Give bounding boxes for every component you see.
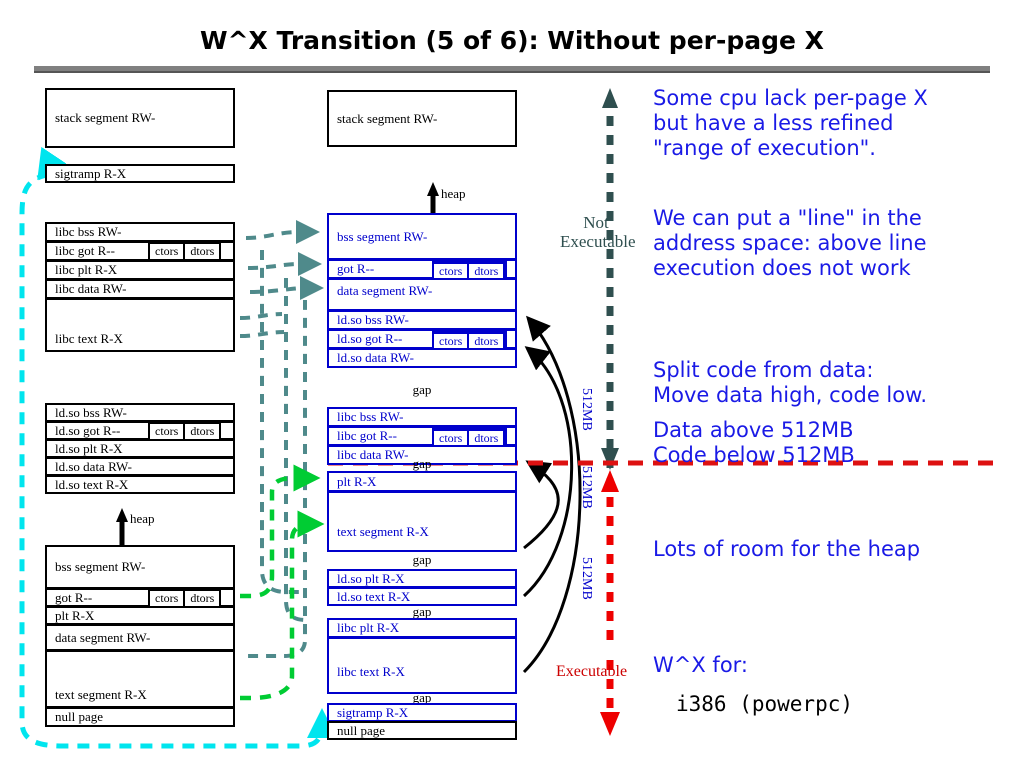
left-seg-libc-text: libc text R-X: [45, 298, 235, 352]
platforms-label: i386 (powerpc): [676, 692, 853, 716]
executable-label: Executable: [556, 663, 627, 681]
executable-arrow-head-up: [601, 470, 619, 492]
ctors-cell: ctors: [148, 242, 185, 261]
teal-connector-1: [246, 232, 316, 238]
left-libc-ctors-dtors: ctors dtors: [150, 242, 221, 261]
left-seg-nullpage: null page: [45, 707, 235, 727]
heap-arrow-left-head: [116, 508, 128, 522]
note-line: We can put a "line" in the address space…: [653, 206, 1013, 281]
mid-gap-1: gap: [327, 382, 517, 398]
mid-heap-label: heap: [441, 186, 466, 202]
mid-seg-libc-text: libc text R-X: [327, 637, 517, 694]
not-executable-arrow-head-up: [602, 88, 618, 108]
slide-canvas: W^X Transition (5 of 6): Without per-pag…: [0, 0, 1024, 768]
heap-arrow-mid-head: [427, 182, 439, 196]
left-seg-sigtramp: sigtramp R-X: [45, 164, 235, 183]
not-executable-label: Not Executable: [560, 213, 632, 251]
left-seg-ldso-bss: ld.so bss RW-: [45, 403, 235, 422]
left-seg-stack: stack segment RW-: [45, 88, 235, 148]
left-seg-libc-data: libc data RW-: [45, 279, 235, 299]
not-executable-arrow-head-down: [601, 448, 619, 470]
left-heap-label: heap: [130, 511, 155, 527]
mid-seg-text: text segment R-X: [327, 491, 517, 552]
green-connector-text: [240, 524, 320, 698]
mid-seg-bss: bss segment RW-: [327, 213, 517, 260]
mid-seg-ldso-bss: ld.so bss RW-: [327, 310, 517, 330]
mid-seg-sigtramp: sigtramp R-X: [327, 703, 517, 722]
mid-gap-2: gap: [327, 456, 517, 472]
mid-gap-3: gap: [327, 552, 517, 568]
left-seg-libc-bss: libc bss RW-: [45, 222, 235, 242]
dtors-cell: dtors: [183, 242, 221, 261]
boundary-label-3: 512MB: [578, 557, 594, 600]
left-seg-data: data segment RW-: [45, 624, 235, 651]
mid-seg-data: data segment RW-: [327, 278, 517, 311]
left-seg-ldso-data: ld.so data RW-: [45, 457, 235, 476]
note-heap-room: Lots of room for the heap: [653, 537, 1023, 562]
mid-seg-plt: plt R-X: [327, 471, 517, 492]
mid-seg-libc-bss: libc bss RW-: [327, 407, 517, 427]
left-seg-ldso-plt: ld.so plt R-X: [45, 439, 235, 458]
note-wx-for: W^X for:: [653, 653, 1013, 678]
mid-seg-stack: stack segment RW-: [327, 90, 517, 147]
executable-arrow-head-down: [600, 712, 620, 736]
boundary-label-1: 512MB: [578, 388, 594, 431]
note-512: Data above 512MB Code below 512MB: [653, 418, 1013, 468]
left-seg-text: text segment R-X: [45, 650, 235, 708]
teal-connector-3: [248, 264, 318, 268]
boundary-label-2: 512MB: [578, 466, 594, 509]
left-seg-ldso-text: ld.so text R-X: [45, 475, 235, 494]
left-seg-bss: bss segment RW-: [45, 545, 235, 589]
teal-connector-7: [240, 314, 282, 318]
mid-seg-ldso-data: ld.so data RW-: [327, 348, 517, 368]
left-seg-plt: plt R-X: [45, 606, 235, 625]
mid-seg-nullpage: null page: [327, 721, 517, 740]
note-split: Split code from data: Move data high, co…: [653, 358, 1013, 408]
mid-seg-libc-plt: libc plt R-X: [327, 618, 517, 638]
teal-connector-2: [262, 250, 300, 592]
mid-seg-ldso-plt: ld.so plt R-X: [327, 569, 517, 588]
teal-connector-8: [240, 332, 284, 336]
black-arrow-text: [524, 462, 558, 548]
note-cpu-lack: Some cpu lack per-page X but have a less…: [653, 86, 1013, 161]
left-seg-libc-plt: libc plt R-X: [45, 260, 235, 280]
black-arrow-libc: [524, 318, 580, 672]
